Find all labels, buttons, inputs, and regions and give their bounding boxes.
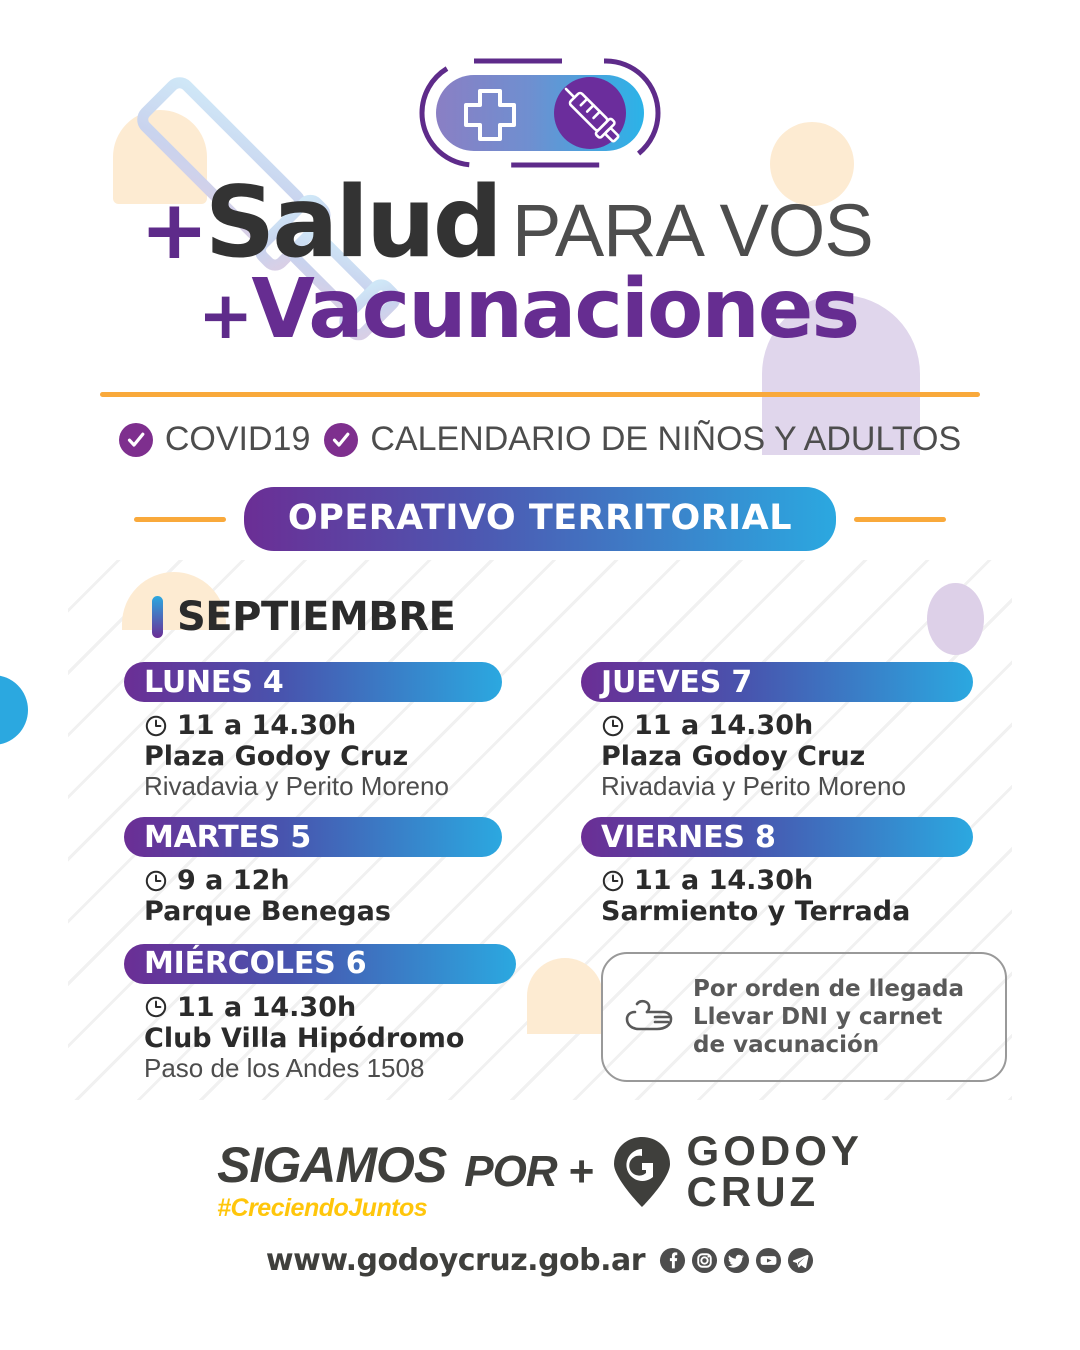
por-plus-label: POR + <box>464 1147 592 1197</box>
operativo-territorial-badge: OPERATIVO TERRITORIAL <box>244 487 836 551</box>
schedule-entry: 11 a 14.30h Plaza Godoy Cruz Rivadavia y… <box>581 710 1020 801</box>
location-pin-g-icon <box>611 1135 673 1209</box>
entry-time: 9 a 12h <box>177 865 290 896</box>
divider-orange-left <box>134 517 226 522</box>
entry-time-row: 11 a 14.30h <box>144 992 563 1023</box>
check-item-covid19: COVID19 <box>119 420 311 459</box>
entry-address: Rivadavia y Perito Moreno <box>601 772 1020 801</box>
day-label: LUNES 4 <box>144 665 284 700</box>
entry-time: 11 a 14.30h <box>177 710 356 741</box>
entry-time-row: 11 a 14.30h <box>601 710 1020 741</box>
note-line-3: de vacunación <box>693 1031 964 1059</box>
title-vacunaciones: Vacunaciones <box>251 262 858 357</box>
day-label: MIÉRCOLES 6 <box>144 946 366 981</box>
entry-place: Sarmiento y Terrada <box>601 897 1020 927</box>
entry-time-row: 11 a 14.30h <box>144 710 563 741</box>
day-pill-miercoles: MIÉRCOLES 6 <box>124 944 516 984</box>
entry-time: 11 a 14.30h <box>634 865 813 896</box>
entry-time-row: 9 a 12h <box>144 865 563 896</box>
brand-line-1: GODOY <box>687 1131 863 1171</box>
day-label: JUEVES 7 <box>601 665 752 700</box>
schedule-entry: 11 a 14.30h Club Villa Hipódromo Paso de… <box>124 992 563 1083</box>
clock-icon <box>601 714 625 738</box>
check-icon <box>324 423 358 457</box>
pointing-hand-icon <box>625 995 677 1039</box>
brand-line-2: CRUZ <box>687 1172 863 1212</box>
schedule-entry: 9 a 12h Parque Benegas <box>124 865 563 927</box>
check-item-calendario: CALENDARIO DE NIÑOS Y ADULTOS <box>324 420 961 459</box>
twitter-icon[interactable] <box>723 1247 750 1274</box>
clock-icon <box>601 869 625 893</box>
day-label: VIERNES 8 <box>601 820 776 855</box>
day-pill-lunes: LUNES 4 <box>124 662 502 702</box>
month-heading: SEPTIEMBRE <box>152 594 1080 640</box>
footer: SIGAMOS #CreciendoJuntos POR + GODOY CRU… <box>0 1140 1080 1278</box>
plus-sign-2: + <box>198 277 253 354</box>
operativo-banner-row: OPERATIVO TERRITORIAL <box>0 487 1080 551</box>
schedule-entry: 11 a 14.30h Sarmiento y Terrada <box>581 865 1020 927</box>
entry-time-row: 11 a 14.30h <box>601 865 1020 896</box>
youtube-icon[interactable] <box>755 1247 782 1274</box>
entry-place: Parque Benegas <box>144 897 563 927</box>
poster-title: + Salud PARA VOS + Vacunaciones <box>140 178 1000 357</box>
syringe-circle <box>554 77 626 149</box>
clock-icon <box>144 995 168 1019</box>
check-icon <box>119 423 153 457</box>
clock-icon <box>144 714 168 738</box>
title-para-vos: PARA VOS <box>512 197 873 265</box>
facebook-icon[interactable] <box>659 1247 686 1274</box>
entry-time: 11 a 14.30h <box>634 710 813 741</box>
month-accent-bar <box>152 596 163 638</box>
entry-address: Paso de los Andes 1508 <box>144 1054 563 1083</box>
schedule-column-left: LUNES 4 11 a 14.30h Plaza Godoy Cruz Riv… <box>124 662 563 1099</box>
poster-root: + Salud PARA VOS + Vacunaciones COVID19 … <box>0 0 1080 1350</box>
title-salud: Salud <box>205 178 500 268</box>
note-text: Por orden de llegada Llevar DNI y carnet… <box>693 975 964 1059</box>
telegram-icon[interactable] <box>787 1247 814 1274</box>
check-label: COVID19 <box>165 420 311 459</box>
schedule-column-right: JUEVES 7 11 a 14.30h Plaza Godoy Cruz Ri… <box>581 662 1020 1099</box>
day-pill-viernes: VIERNES 8 <box>581 817 973 857</box>
hashtag-label: #CreciendoJuntos <box>217 1194 427 1223</box>
entry-place: Plaza Godoy Cruz <box>144 742 563 772</box>
day-label: MARTES 5 <box>144 820 311 855</box>
godoy-cruz-wordmark: GODOY CRUZ <box>687 1131 863 1212</box>
sigamos-label: SIGAMOS <box>217 1140 446 1190</box>
entry-place: Plaza Godoy Cruz <box>601 742 1020 772</box>
coverage-list: COVID19 CALENDARIO DE NIÑOS Y ADULTOS <box>0 420 1080 459</box>
website-label[interactable]: www.godoycruz.gob.ar <box>266 1243 645 1278</box>
schedule-entry: 11 a 14.30h Plaza Godoy Cruz Rivadavia y… <box>124 710 563 801</box>
entry-address: Rivadavia y Perito Moreno <box>144 772 563 801</box>
plus-sign-1: + <box>140 193 209 268</box>
clock-icon <box>144 869 168 893</box>
note-box: Por orden de llegada Llevar DNI y carnet… <box>601 952 1007 1082</box>
footer-brand-row: SIGAMOS #CreciendoJuntos POR + GODOY CRU… <box>0 1140 1080 1223</box>
check-label: CALENDARIO DE NIÑOS Y ADULTOS <box>370 420 961 459</box>
social-icons <box>659 1247 814 1274</box>
note-line-1: Por orden de llegada <box>693 975 964 1003</box>
day-pill-jueves: JUEVES 7 <box>581 662 973 702</box>
schedule-section: SEPTIEMBRE LUNES 4 11 a 14.30h Plaza <box>0 594 1080 1099</box>
vaccination-badge-logo <box>418 57 662 169</box>
sigamos-block: SIGAMOS #CreciendoJuntos <box>217 1140 446 1223</box>
month-label: SEPTIEMBRE <box>177 594 455 640</box>
instagram-icon[interactable] <box>691 1247 718 1274</box>
note-line-2: Llevar DNI y carnet <box>693 1003 964 1031</box>
divider-orange-right <box>854 517 946 522</box>
footer-website-row: www.godoycruz.gob.ar <box>0 1243 1080 1278</box>
day-pill-martes: MARTES 5 <box>124 817 502 857</box>
entry-time: 11 a 14.30h <box>177 992 356 1023</box>
godoy-cruz-logo: GODOY CRUZ <box>611 1131 863 1212</box>
divider-orange-top <box>100 392 980 397</box>
entry-place: Club Villa Hipódromo <box>144 1024 563 1054</box>
